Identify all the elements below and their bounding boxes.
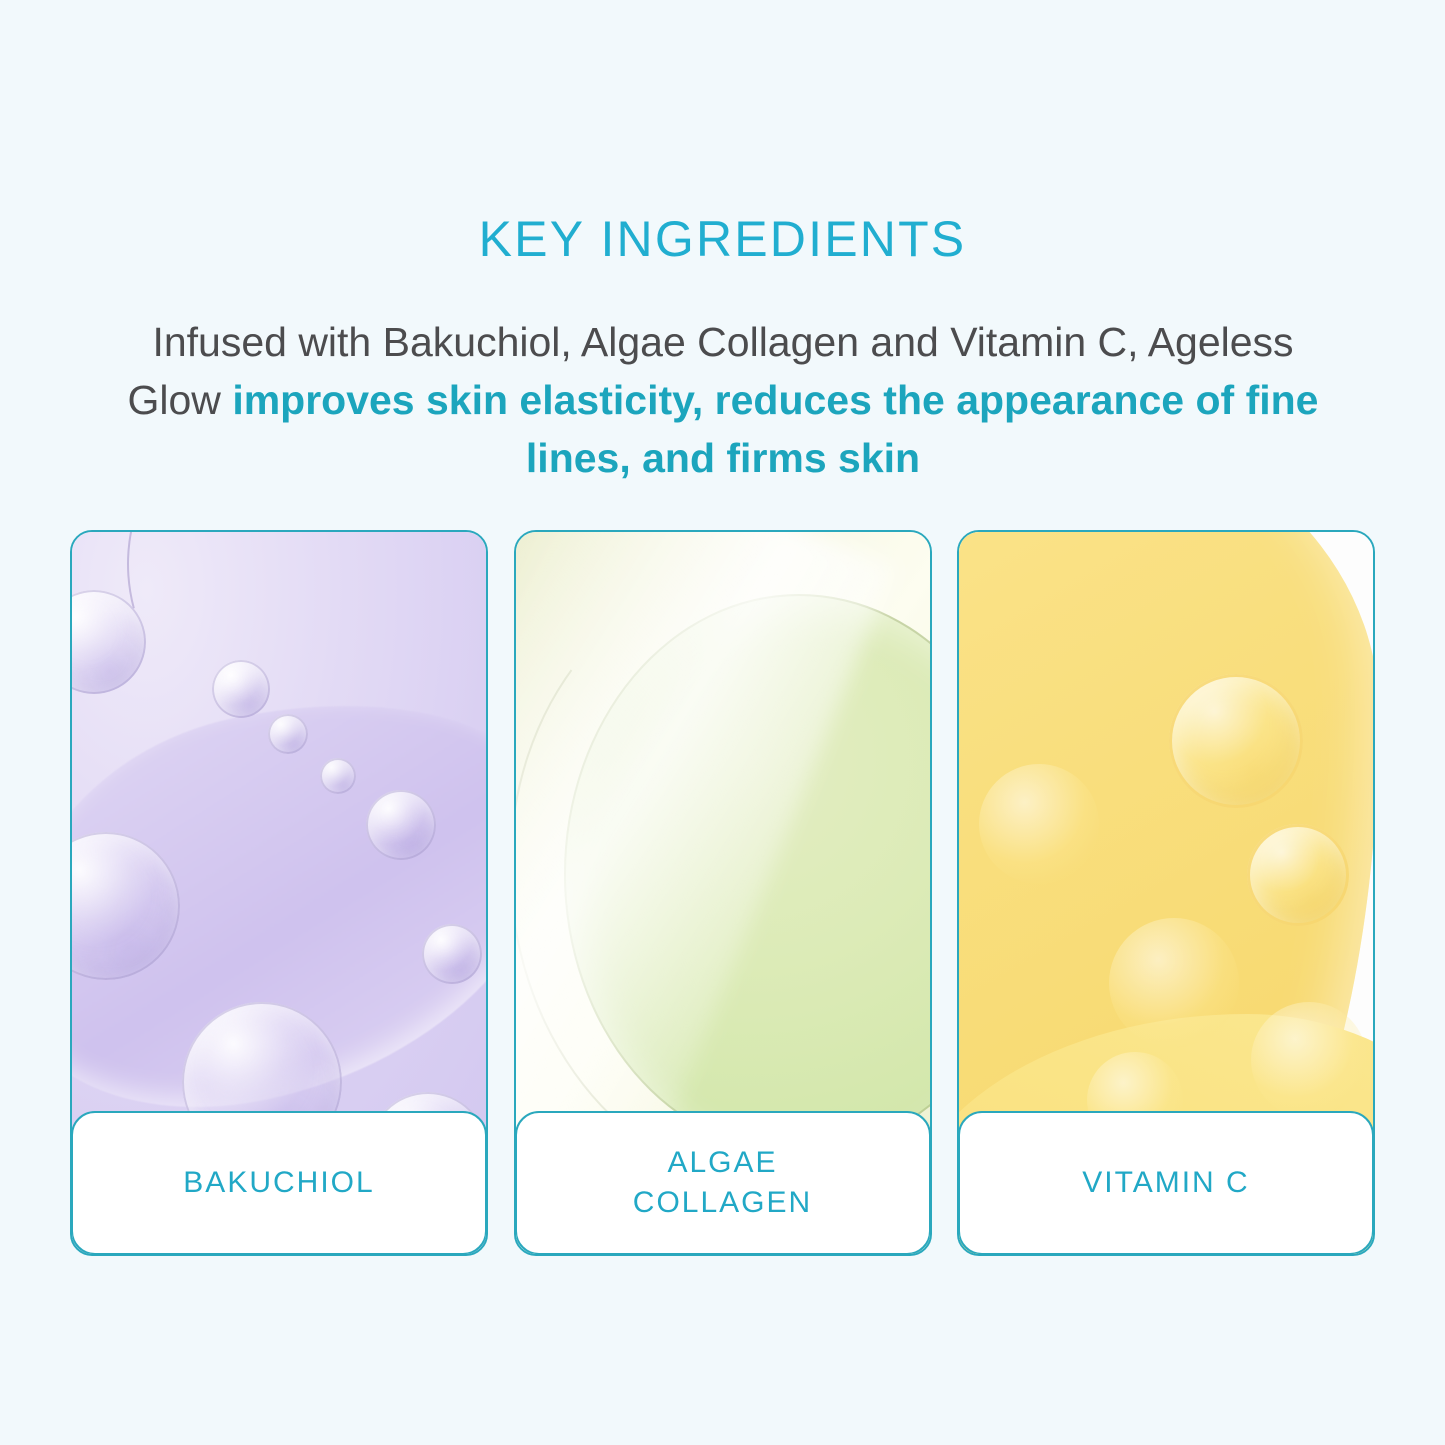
ingredient-label: VITAMIN C	[1082, 1163, 1249, 1203]
ingredient-card-row: BAKUCHIOL ALGAE COLLAGEN	[70, 530, 1375, 1256]
lavender-bubble	[212, 660, 270, 718]
ingredient-label: BAKUCHIOL	[183, 1163, 374, 1203]
lavender-bubble	[320, 758, 356, 794]
yellow-soft-bubble	[979, 764, 1099, 884]
algae-collagen-label-plate: ALGAE COLLAGEN	[515, 1111, 931, 1255]
yellow-oil-bubble	[1247, 824, 1349, 926]
bakuchiol-label-plate: BAKUCHIOL	[71, 1111, 487, 1255]
lavender-bubble	[366, 790, 436, 860]
lavender-bubble	[268, 714, 308, 754]
ingredient-card-algae-collagen[interactable]: ALGAE COLLAGEN	[514, 530, 932, 1256]
lavender-bubble	[422, 924, 482, 984]
ingredient-card-bakuchiol[interactable]: BAKUCHIOL	[70, 530, 488, 1256]
subtitle-accent-text: improves skin elasticity, reduces the ap…	[232, 377, 1318, 481]
ingredient-card-vitamin-c[interactable]: VITAMIN C	[957, 530, 1375, 1256]
yellow-soft-bubble	[1109, 918, 1239, 1048]
yellow-oil-bubble	[1169, 674, 1303, 808]
page-subtitle: Infused with Bakuchiol, Algae Collagen a…	[118, 313, 1328, 487]
yellow-soft-bubble	[1251, 1002, 1367, 1118]
ingredient-label: ALGAE COLLAGEN	[633, 1143, 812, 1223]
key-ingredients-panel: KEY INGREDIENTS Infused with Bakuchiol, …	[0, 0, 1445, 1445]
vitamin-c-label-plate: VITAMIN C	[958, 1111, 1374, 1255]
page-title: KEY INGREDIENTS	[0, 212, 1445, 267]
